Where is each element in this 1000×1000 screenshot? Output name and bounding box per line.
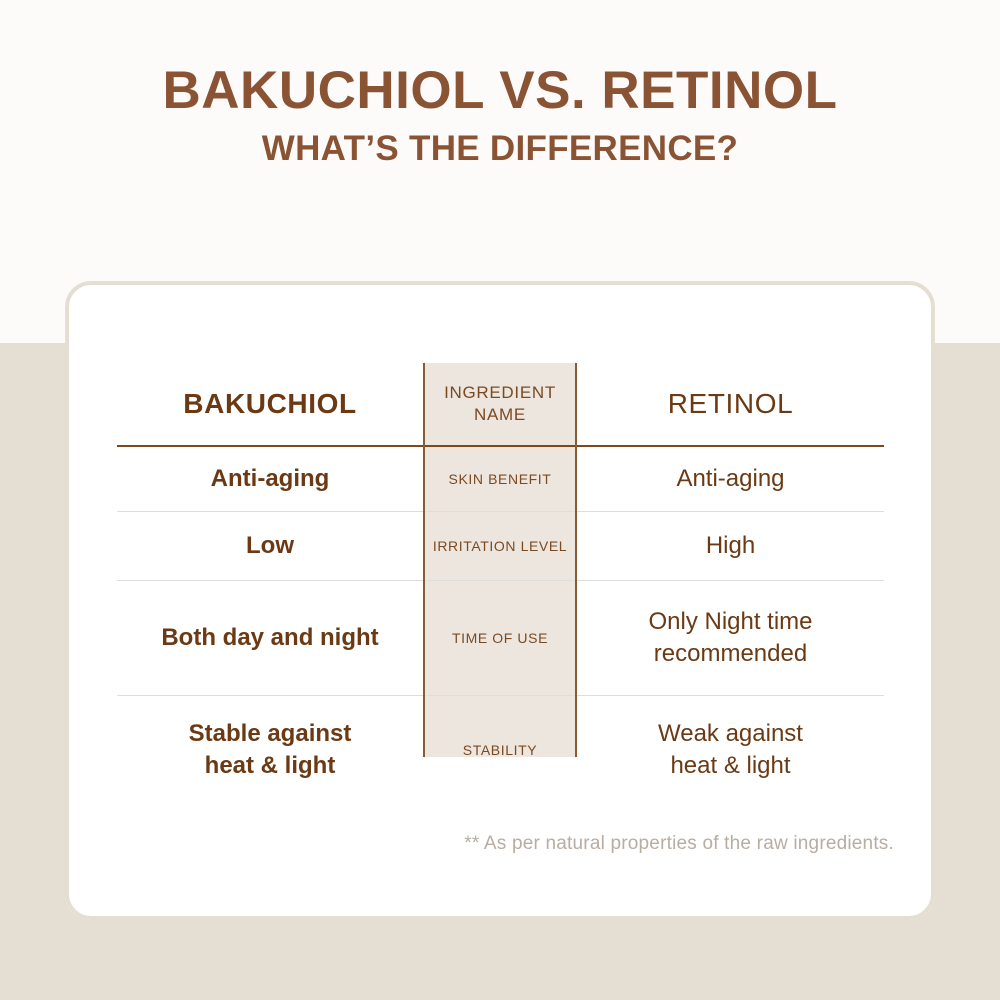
header-retinol: RETINOL: [577, 363, 884, 446]
cell-retinol-time-of-use-line2: recommended: [577, 638, 884, 670]
cell-bakuchiol-irritation-level: Low: [117, 512, 423, 581]
footnote: ** As per natural properties of the raw …: [117, 833, 894, 855]
cell-attribute-skin-benefit: SKIN BENEFIT: [423, 446, 577, 512]
table-row: Both day and night TIME OF USE Only Nigh…: [117, 581, 884, 696]
attribute-column-rule-left: [423, 363, 425, 757]
cell-attribute-stability: STABILITY: [423, 696, 577, 805]
comparison-table: BAKUCHIOL INGREDIENT NAME RETINOL Anti-a…: [117, 363, 884, 804]
cell-bakuchiol-stability-line2: heat & light: [117, 750, 423, 782]
cell-attribute-time-of-use: TIME OF USE: [423, 581, 577, 696]
cell-attribute-irritation-level: IRRITATION LEVEL: [423, 512, 577, 581]
cell-retinol-time-of-use-line1: Only Night time: [577, 606, 884, 638]
cell-bakuchiol-stability-line1: Stable against: [117, 718, 423, 750]
table-row: Stable against heat & light STABILITY We…: [117, 696, 884, 805]
cell-bakuchiol-skin-benefit: Anti-aging: [117, 446, 423, 512]
cell-retinol-stability: Weak against heat & light: [577, 696, 884, 805]
cell-retinol-skin-benefit: Anti-aging: [577, 446, 884, 512]
cell-bakuchiol-time-of-use: Both day and night: [117, 581, 423, 696]
cell-retinol-time-of-use: Only Night time recommended: [577, 581, 884, 696]
table-row: Low IRRITATION LEVEL High: [117, 512, 884, 581]
page-title: BAKUCHIOL VS. RETINOL: [0, 62, 1000, 119]
table-header-row: BAKUCHIOL INGREDIENT NAME RETINOL: [117, 363, 884, 446]
page-subtitle: WHAT’S THE DIFFERENCE?: [0, 130, 1000, 169]
cell-retinol-stability-line2: heat & light: [577, 750, 884, 782]
cell-retinol-irritation-level: High: [577, 512, 884, 581]
attribute-column-rule-right: [575, 363, 577, 757]
cell-retinol-stability-line1: Weak against: [577, 718, 884, 750]
header-attribute: INGREDIENT NAME: [423, 363, 577, 446]
cell-bakuchiol-stability: Stable against heat & light: [117, 696, 423, 805]
header-attribute-line2: NAME: [423, 404, 577, 426]
table-row: Anti-aging SKIN BENEFIT Anti-aging: [117, 446, 884, 512]
heading-block: BAKUCHIOL VS. RETINOL WHAT’S THE DIFFERE…: [0, 62, 1000, 169]
comparison-table-area: BAKUCHIOL INGREDIENT NAME RETINOL Anti-a…: [117, 363, 884, 804]
header-bakuchiol: BAKUCHIOL: [117, 363, 423, 446]
header-attribute-line1: INGREDIENT: [423, 382, 577, 404]
